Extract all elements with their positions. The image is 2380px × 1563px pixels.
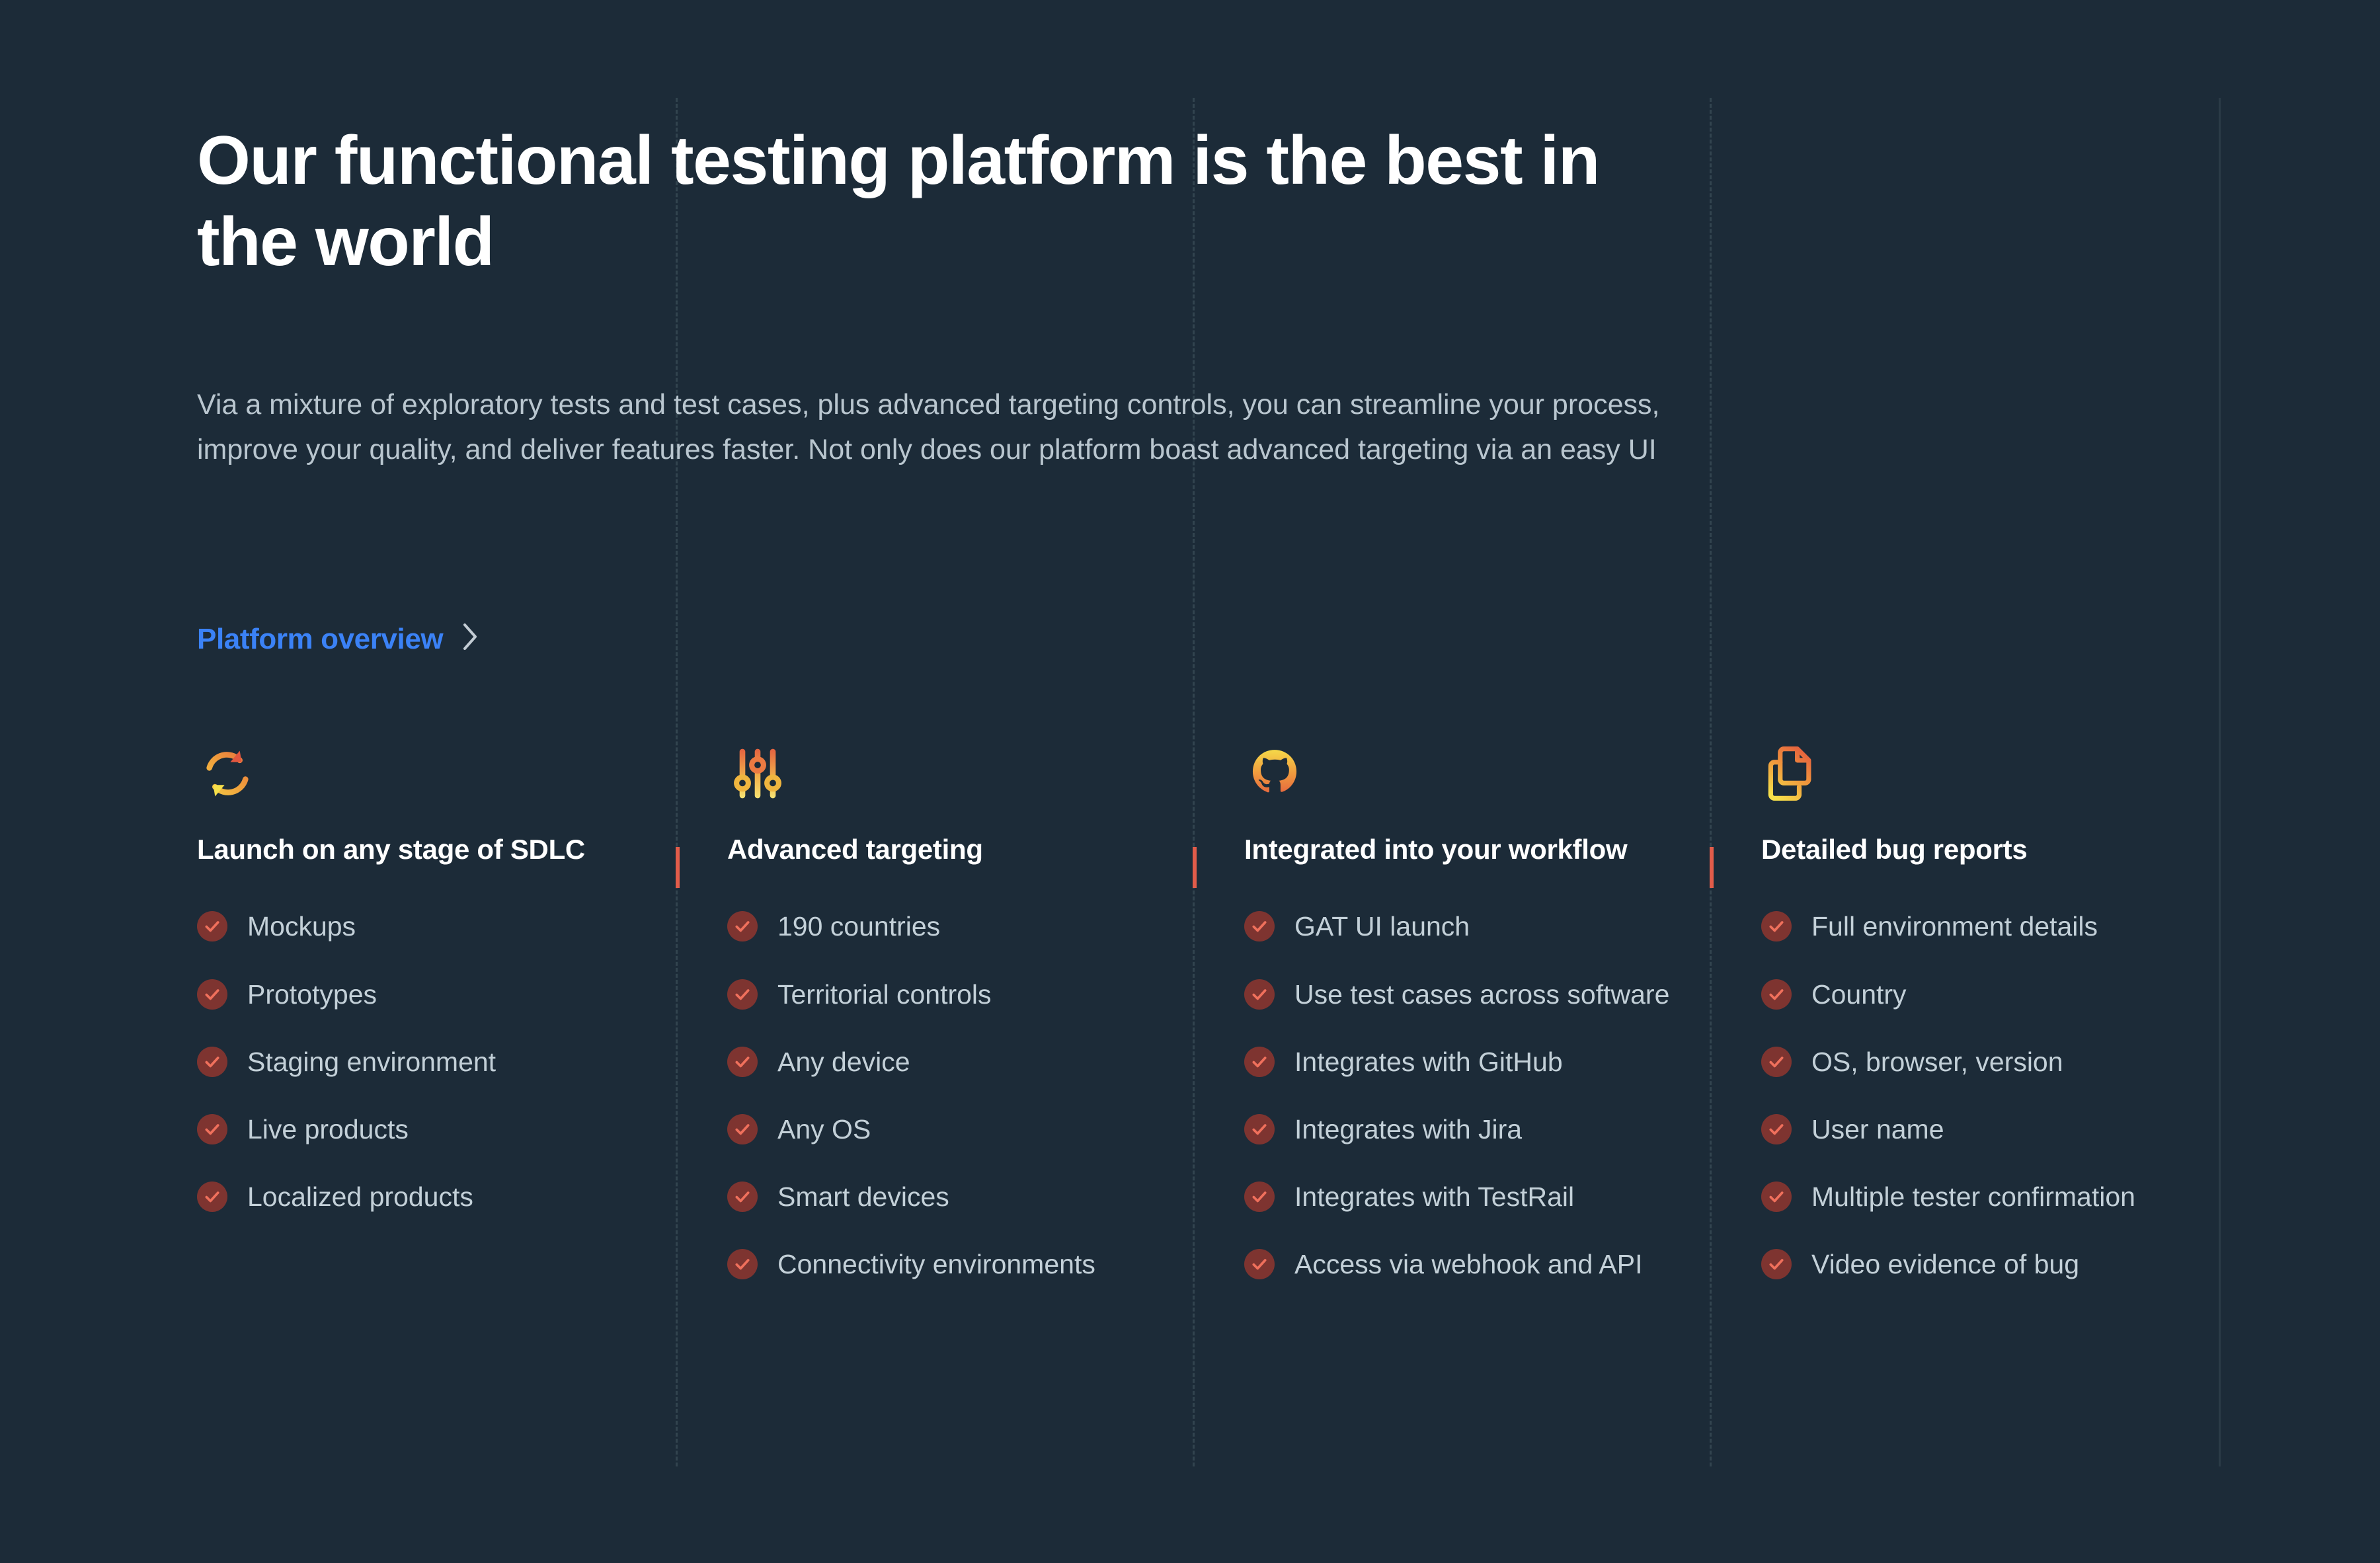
check-circle-icon [1761,979,1792,1010]
feature-column-title: Advanced targeting [727,833,1166,866]
list-item: Smart devices [727,1178,1166,1216]
check-circle-icon [1761,1047,1792,1077]
page-title: Our functional testing platform is the b… [197,120,1665,282]
check-circle-icon [727,1047,758,1077]
list-item: GAT UI launch [1244,907,1683,945]
list-item-label: User name [1811,1110,1944,1148]
accent-bar [676,847,680,888]
list-item: Staging environment [197,1043,636,1081]
list-item: Live products [197,1110,636,1148]
check-circle-icon [197,979,227,1010]
check-circle-icon [727,979,758,1010]
list-item-label: 190 countries [777,907,940,945]
check-circle-icon [1761,911,1792,942]
feature-list-3: GAT UI launch Use test cases across soft… [1244,907,1683,1283]
list-item-label: Prototypes [247,975,377,1014]
list-item-label: Live products [247,1110,409,1148]
list-item-label: Any OS [777,1110,871,1148]
list-item-label: Country [1811,975,1907,1014]
list-item-label: Integrates with Jira [1294,1110,1522,1148]
list-item: Use test cases across software [1244,975,1683,1014]
feature-column-title: Integrated into your workflow [1244,833,1683,866]
hero-description: Via a mixture of exploratory tests and t… [197,383,1671,473]
list-item-label: Use test cases across software [1294,975,1669,1014]
list-item-label: Localized products [247,1178,473,1216]
accent-bar [1193,847,1197,888]
list-item: Full environment details [1761,907,2200,945]
list-item: Localized products [197,1178,636,1216]
feature-column-title: Launch on any stage of SDLC [197,833,636,866]
feature-list-1: Mockups Prototypes Staging environment L… [197,907,636,1216]
check-circle-icon [1244,911,1275,942]
feature-section: Our functional testing platform is the b… [0,0,2380,1563]
list-item: 190 countries [727,907,1166,945]
feature-list-2: 190 countries Territorial controls Any d… [727,907,1166,1283]
list-item: Country [1761,975,2200,1014]
list-item: Video evidence of bug [1761,1245,2200,1283]
check-circle-icon [727,1182,758,1212]
check-circle-icon [1244,1249,1275,1279]
list-item-label: OS, browser, version [1811,1043,2063,1081]
check-circle-icon [727,911,758,942]
platform-overview-label: Platform overview [197,623,443,656]
check-circle-icon [1761,1249,1792,1279]
feature-column-2: Advanced targeting 190 countries Territo… [676,739,1193,1313]
list-item-label: Connectivity environments [777,1245,1095,1283]
check-circle-icon [197,1182,227,1212]
list-item: Any OS [727,1110,1166,1148]
list-item: Mockups [197,907,636,945]
list-item-label: Staging environment [247,1043,496,1081]
list-item: Integrates with Jira [1244,1110,1683,1148]
list-item-label: Video evidence of bug [1811,1245,2079,1283]
check-circle-icon [1761,1182,1792,1212]
list-item: User name [1761,1110,2200,1148]
feature-column-title: Detailed bug reports [1761,833,2200,866]
check-circle-icon [1244,1114,1275,1144]
chevron-right-icon [460,621,480,657]
feature-column-4: Detailed bug reports Full environment de… [1710,739,2227,1313]
feature-column-3: Integrated into your workflow GAT UI lau… [1193,739,1710,1313]
accent-bar [1710,847,1714,888]
list-item: Connectivity environments [727,1245,1166,1283]
refresh-sync-icon [197,739,636,808]
hero-block: Our functional testing platform is the b… [197,120,1685,473]
copy-documents-icon [1761,739,2200,808]
list-item: Any device [727,1043,1166,1081]
list-item: Territorial controls [727,975,1166,1014]
check-circle-icon [1244,1182,1275,1212]
platform-overview-link[interactable]: Platform overview [197,621,480,657]
list-item-label: Integrates with GitHub [1294,1043,1563,1081]
list-item: Access via webhook and API [1244,1245,1683,1283]
check-circle-icon [727,1114,758,1144]
list-item: OS, browser, version [1761,1043,2200,1081]
check-circle-icon [197,1047,227,1077]
check-circle-icon [1761,1114,1792,1144]
feature-columns: Launch on any stage of SDLC Mockups Prot… [0,739,2380,1313]
list-item-label: Integrates with TestRail [1294,1178,1574,1216]
list-item-label: Smart devices [777,1178,949,1216]
list-item: Multiple tester confirmation [1761,1178,2200,1216]
list-item: Prototypes [197,975,636,1014]
check-circle-icon [1244,979,1275,1010]
list-item-label: Mockups [247,907,356,945]
list-item-label: GAT UI launch [1294,907,1470,945]
check-circle-icon [727,1249,758,1279]
sliders-icon [727,739,1166,808]
list-item-label: Full environment details [1811,907,2098,945]
feature-column-1: Launch on any stage of SDLC Mockups Prot… [0,739,676,1313]
check-circle-icon [1244,1047,1275,1077]
check-circle-icon [197,911,227,942]
check-circle-icon [197,1114,227,1144]
list-item: Integrates with TestRail [1244,1178,1683,1216]
feature-list-4: Full environment details Country OS, bro… [1761,907,2200,1283]
list-item-label: Access via webhook and API [1294,1245,1642,1283]
list-item: Integrates with GitHub [1244,1043,1683,1081]
list-item-label: Any device [777,1043,910,1081]
list-item-label: Territorial controls [777,975,992,1014]
list-item-label: Multiple tester confirmation [1811,1178,2135,1216]
github-icon [1244,739,1683,808]
